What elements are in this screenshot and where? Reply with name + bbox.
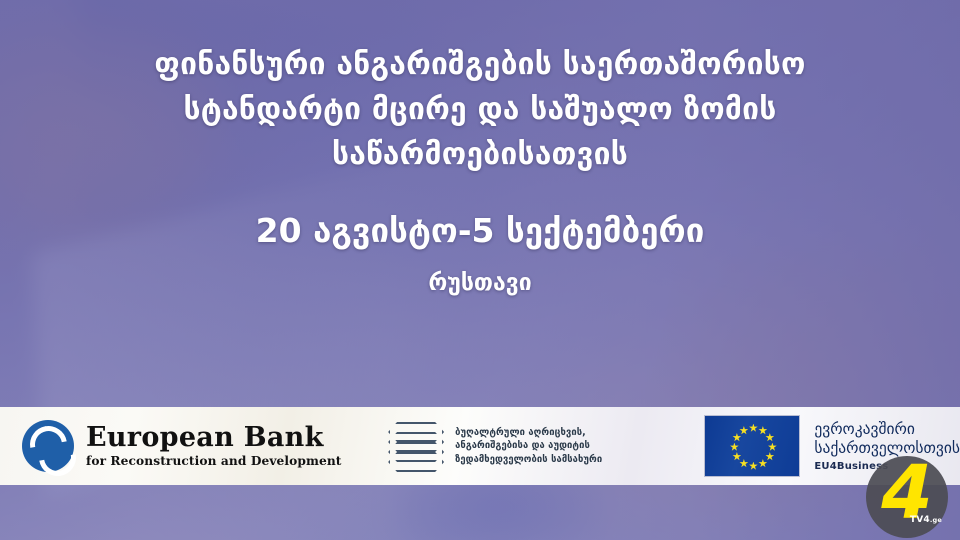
event-city: რუსთავი [0, 268, 960, 298]
tv4-domain: .ge [930, 516, 942, 524]
event-date: 20 აგვისტო-5 სექტემბერი [0, 210, 960, 252]
eu-star-icon [730, 443, 739, 452]
eu-star-icon [732, 452, 741, 461]
sponsor-ebrd: European Bank for Reconstruction and Dev… [0, 407, 350, 485]
poster-headline: ფინანსური ანგარიშგების საერთაშორისო სტან… [0, 42, 960, 177]
eu-flag-icon [704, 415, 800, 477]
eu-star-icon [732, 433, 741, 442]
saras-line-2: ანგარიშგებისა და აუდიტის [455, 439, 602, 452]
eu-star-icon [739, 459, 748, 468]
eu-star-icon [765, 452, 774, 461]
stacked-layers-logo-icon [388, 420, 444, 472]
sponsor-bar: European Bank for Reconstruction and Dev… [0, 407, 960, 485]
headline-line-1: ფინანსური ანგარიშგების საერთაშორისო [70, 42, 890, 87]
eu-star-icon [749, 462, 758, 471]
headline-line-2: სტანდარტი მცირე და საშუალო ზომის [70, 87, 890, 132]
saras-line-3: ზედამხედველობის სამსახური [455, 453, 602, 466]
sponsor-saras: ბუღალტრული აღრიცხვის, ანგარიშგებისა და ა… [350, 407, 686, 485]
eu-star-icon [758, 459, 767, 468]
saras-wordmark: ბუღალტრული აღრიცხვის, ანგარიშგებისა და ა… [455, 426, 602, 466]
headline-line-3: საწარმოებისათვის [70, 132, 890, 177]
ebrd-name-sub: for Reconstruction and Development [86, 453, 342, 469]
eu-line-1: ევროკავშირი [814, 420, 960, 439]
ebrd-wordmark: European Bank for Reconstruction and Dev… [86, 423, 342, 469]
eu-star-icon [749, 424, 758, 433]
tv4-label: TV4 [910, 515, 930, 525]
tv4-channel-logo-icon: 4 TV4.ge [866, 456, 948, 538]
eu-star-icon [768, 443, 777, 452]
eu-star-icon [758, 426, 767, 435]
tv4-tag: TV4.ge [910, 515, 942, 525]
ebrd-circle-logo-icon [22, 420, 74, 472]
eu-star-icon [765, 433, 774, 442]
event-poster: ფინანსური ანგარიშგების საერთაშორისო სტან… [0, 0, 960, 540]
ebrd-name-main: European Bank [86, 423, 342, 452]
saras-line-1: ბუღალტრული აღრიცხვის, [455, 426, 602, 439]
eu-star-icon [739, 426, 748, 435]
